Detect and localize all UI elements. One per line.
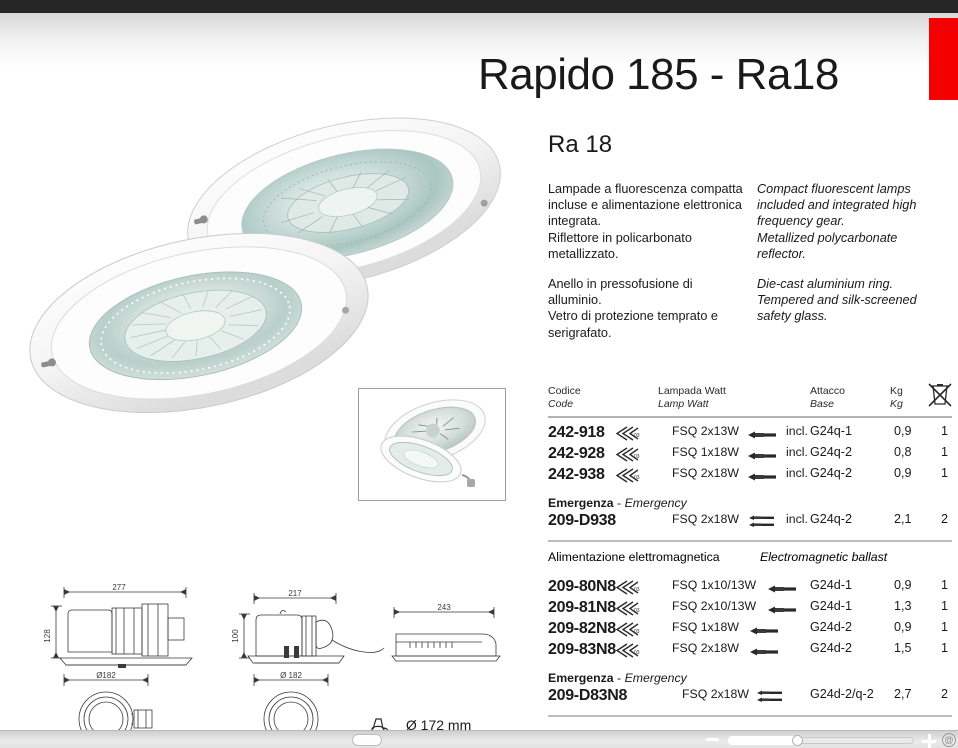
row-code: 209-80N8 xyxy=(548,578,616,596)
row-base: G24q-2 xyxy=(810,466,852,480)
table-bottom-rule xyxy=(548,715,952,717)
row-code: 242-918 xyxy=(548,424,605,442)
row-lamp: FSQ 1x10/13W xyxy=(672,578,756,592)
product-photo-inset xyxy=(358,388,506,501)
header-base-it: Attacco xyxy=(810,385,845,398)
lamp-emergency-icon xyxy=(748,515,776,534)
technical-drawings: 277 128 xyxy=(30,578,530,738)
section-label-it: Emergenza xyxy=(548,496,614,510)
table-row[interactable]: 242-938 03 FSQ 2x18W incl. G24q-2 0,9 1 xyxy=(548,466,952,487)
energy-class-icon: 03 xyxy=(614,600,640,622)
table-group-electronic: 242-918 03 FSQ 2x13W incl. G24q-1 0,9 1 … xyxy=(548,424,952,487)
row-kg: 2,1 xyxy=(894,512,912,526)
svg-text:03: 03 xyxy=(634,608,640,614)
lamp-emergency-icon xyxy=(756,690,784,709)
row-lamp: FSQ 2x18W xyxy=(672,466,739,480)
description-en-para-1: Compact fluorescent lamps included and i… xyxy=(757,181,949,262)
row-lamp: FSQ 2x13W xyxy=(672,424,739,438)
row-kg: 0,9 xyxy=(894,578,912,592)
description-italian: Lampade a fluorescenza compatta incluse … xyxy=(548,181,748,341)
description-en-para-2: Die-cast aluminium ring. Tempered and si… xyxy=(757,276,949,325)
table-row[interactable]: 209-83N8 03 FSQ 2x18W G24d-2 1,5 1 xyxy=(548,641,952,662)
table-row[interactable]: 209-80N8 03 FSQ 1x10/13W G24d-1 0,9 1 xyxy=(548,578,952,599)
lamp-icon xyxy=(768,602,796,620)
horizontal-scrollbar[interactable] xyxy=(0,733,690,746)
energy-class-icon: 03 xyxy=(614,467,640,489)
page-subtitle: Ra 18 xyxy=(548,131,612,159)
svg-text:217: 217 xyxy=(288,589,302,598)
svg-text:03: 03 xyxy=(634,475,640,481)
table-header-row: Codice Code Lampada Watt Lamp Watt Attac… xyxy=(548,385,952,413)
table-group-electromagnetic: 209-80N8 03 FSQ 1x10/13W G24d-1 0,9 1 20… xyxy=(548,578,952,662)
row-incl: incl. xyxy=(786,424,808,438)
row-lamp: FSQ 2x18W xyxy=(682,687,749,701)
lamp-icon xyxy=(768,581,796,599)
table-section-rule xyxy=(548,540,952,542)
row-base: G24d-1 xyxy=(810,578,852,592)
description-it-para-2: Anello in pressofusione di alluminio. Ve… xyxy=(548,276,748,341)
section-label-emergency-1: Emergenza - Emergency xyxy=(548,496,952,510)
header-code-en: Code xyxy=(548,398,581,411)
row-qty: 1 xyxy=(941,466,948,480)
row-lamp: FSQ 1x18W xyxy=(672,445,739,459)
row-kg: 0,9 xyxy=(894,466,912,480)
zoom-slider-knob[interactable] xyxy=(792,735,803,746)
svg-text:Ø182: Ø182 xyxy=(96,671,116,680)
lamp-icon xyxy=(748,448,776,466)
row-base: G24d-2/q-2 xyxy=(810,687,874,701)
row-code: 209-81N8 xyxy=(548,599,616,617)
svg-text:03: 03 xyxy=(634,433,640,439)
row-qty: 2 xyxy=(941,512,948,526)
row-qty: 1 xyxy=(941,578,948,592)
zoom-in-button[interactable] xyxy=(922,734,936,748)
product-table: Codice Code Lampada Watt Lamp Watt Attac… xyxy=(548,385,952,725)
section-electromagnetic-ballast: Alimentazione elettromagnetica Electroma… xyxy=(548,550,952,570)
lamp-icon xyxy=(750,644,778,662)
row-incl: incl. xyxy=(786,445,808,459)
ballast-label-it: Alimentazione elettromagnetica xyxy=(548,550,720,564)
table-row[interactable]: 242-918 03 FSQ 2x13W incl. G24q-1 0,9 1 xyxy=(548,424,952,445)
row-qty: 2 xyxy=(941,687,948,701)
table-row[interactable]: 209-D938 FSQ 2x18W incl. G24q-2 2,1 2 xyxy=(548,512,952,536)
row-qty: 1 xyxy=(941,424,948,438)
row-kg: 0,8 xyxy=(894,445,912,459)
product-photo-main xyxy=(24,108,524,418)
page-title: Rapido 185 - Ra18 xyxy=(478,50,839,100)
header-kg-en: Kg xyxy=(890,398,903,411)
section-label-it: Emergenza xyxy=(548,671,614,685)
energy-class-icon: 03 xyxy=(614,621,640,643)
weee-bin-icon xyxy=(926,383,956,411)
row-base: G24q-2 xyxy=(810,512,852,526)
section-label-sep: - xyxy=(614,496,625,510)
catalog-page-content: Rapido 185 - Ra18 Ra 18 Lampade a fluore… xyxy=(0,13,958,730)
row-kg: 2,7 xyxy=(894,687,912,701)
description-it-para-1: Lampade a fluorescenza compatta incluse … xyxy=(548,181,748,262)
svg-text:03: 03 xyxy=(634,629,640,635)
row-code: 209-D83N8 xyxy=(548,687,627,705)
row-incl: incl. xyxy=(786,466,808,480)
section-label-emergency-2: Emergenza - Emergency xyxy=(548,671,952,685)
row-kg: 0,9 xyxy=(894,620,912,634)
row-lamp: FSQ 2x18W xyxy=(672,512,739,526)
energy-class-icon: 03 xyxy=(614,642,640,664)
energy-class-icon: 03 xyxy=(614,579,640,601)
table-row[interactable]: 242-928 03 FSQ 1x18W incl. G24q-2 0,8 1 xyxy=(548,445,952,466)
row-code: 242-938 xyxy=(548,466,605,484)
row-base: G24q-2 xyxy=(810,445,852,459)
svg-text:03: 03 xyxy=(634,587,640,593)
header-base-en: Base xyxy=(810,398,845,411)
row-code: 209-D938 xyxy=(548,512,616,530)
header-code-it: Codice xyxy=(548,385,581,398)
table-row[interactable]: 209-81N8 03 FSQ 2x10/13W G24d-1 1,3 1 xyxy=(548,599,952,620)
row-qty: 1 xyxy=(941,641,948,655)
zoom-controls: @ xyxy=(700,731,958,748)
row-kg: 0,9 xyxy=(894,424,912,438)
lamp-icon xyxy=(750,623,778,641)
section-label-sep: - xyxy=(614,671,625,685)
header-kg-it: Kg xyxy=(890,385,903,398)
row-qty: 1 xyxy=(941,620,948,634)
energy-class-icon: 03 xyxy=(614,425,640,447)
row-incl: incl. xyxy=(786,512,808,526)
viewer-top-bar xyxy=(0,0,958,13)
header-lamp-en: Lamp Watt xyxy=(658,398,726,411)
table-header-rule xyxy=(548,416,952,418)
section-label-en: Emergency xyxy=(625,671,687,685)
description-english: Compact fluorescent lamps included and i… xyxy=(757,181,949,325)
energy-class-icon: 03 xyxy=(614,446,640,468)
row-code: 242-928 xyxy=(548,445,605,463)
row-qty: 1 xyxy=(941,599,948,613)
row-lamp: FSQ 2x18W xyxy=(672,641,739,655)
row-code: 209-82N8 xyxy=(548,620,616,638)
zoom-out-button[interactable] xyxy=(706,738,719,741)
zoom-slider-fill xyxy=(728,736,798,745)
row-kg: 1,3 xyxy=(894,599,912,613)
header-lamp-it: Lampada Watt xyxy=(658,385,726,398)
lamp-icon xyxy=(748,469,776,487)
ballast-label-en: Electromagnetic ballast xyxy=(760,550,887,564)
row-lamp: FSQ 1x18W xyxy=(672,620,739,634)
row-lamp: FSQ 2x10/13W xyxy=(672,599,756,613)
svg-text:03: 03 xyxy=(634,454,640,460)
row-qty: 1 xyxy=(941,445,948,459)
svg-text:243: 243 xyxy=(437,603,451,612)
svg-text:03: 03 xyxy=(634,650,640,656)
svg-text:100: 100 xyxy=(231,629,240,643)
horizontal-scrollbar-thumb[interactable] xyxy=(352,734,382,746)
row-base: G24d-1 xyxy=(810,599,852,613)
fit-page-icon[interactable]: @ xyxy=(942,733,956,747)
table-row[interactable]: 209-82N8 03 FSQ 1x18W G24d-2 0,9 1 xyxy=(548,620,952,641)
row-base: G24q-1 xyxy=(810,424,852,438)
table-row[interactable]: 209-D83N8 FSQ 2x18W G24d-2/q-2 2,7 2 xyxy=(548,687,952,711)
row-code: 209-83N8 xyxy=(548,641,616,659)
page-accent-tab xyxy=(929,18,958,100)
row-kg: 1,5 xyxy=(894,641,912,655)
pdf-viewer: Rapido 185 - Ra18 Ra 18 Lampade a fluore… xyxy=(0,0,958,748)
svg-text:128: 128 xyxy=(43,629,52,643)
svg-text:Ø 182: Ø 182 xyxy=(280,671,302,680)
section-label-en: Emergency xyxy=(625,496,687,510)
lamp-icon xyxy=(748,427,776,445)
svg-text:277: 277 xyxy=(112,583,126,592)
row-base: G24d-2 xyxy=(810,641,852,655)
row-base: G24d-2 xyxy=(810,620,852,634)
